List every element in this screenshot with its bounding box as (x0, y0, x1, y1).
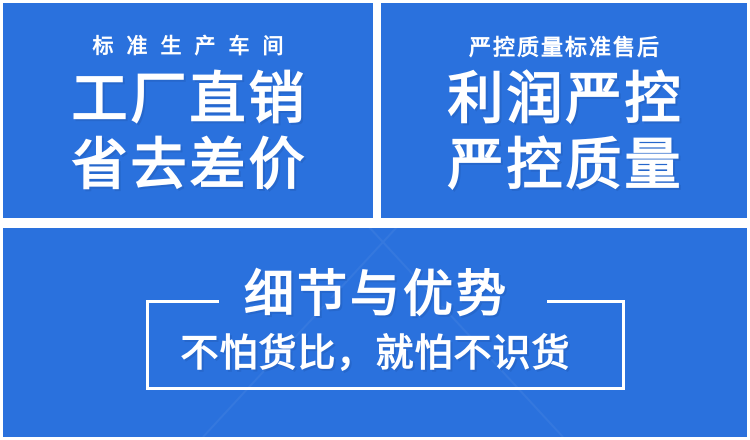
promo-banner: 标准生产车间 工厂直销 省去差价 严控质量标准售后 利润严控 严控质量 细节与优… (0, 0, 750, 440)
panel-right-headline-line-2: 严控质量 (381, 133, 747, 197)
panel-left-headline-line-2: 省去差价 (3, 133, 373, 197)
panel-factory-direct: 标准生产车间 工厂直销 省去差价 (3, 3, 373, 218)
panel-left-eyebrow: 标准生产车间 (3, 30, 373, 60)
panel-right-headline-line-1: 利润严控 (381, 67, 747, 131)
panel-quality-control: 严控质量标准售后 利润严控 严控质量 (381, 3, 747, 218)
panel-details-advantages: 细节与优势 不怕货比，就怕不识货 (3, 228, 747, 437)
bottom-panel-title: 细节与优势 (3, 265, 747, 323)
bottom-panel-subtitle: 不怕货比，就怕不识货 (3, 332, 747, 376)
panel-right-eyebrow: 严控质量标准售后 (381, 30, 747, 62)
panel-left-headline-line-1: 工厂直销 (3, 67, 373, 131)
